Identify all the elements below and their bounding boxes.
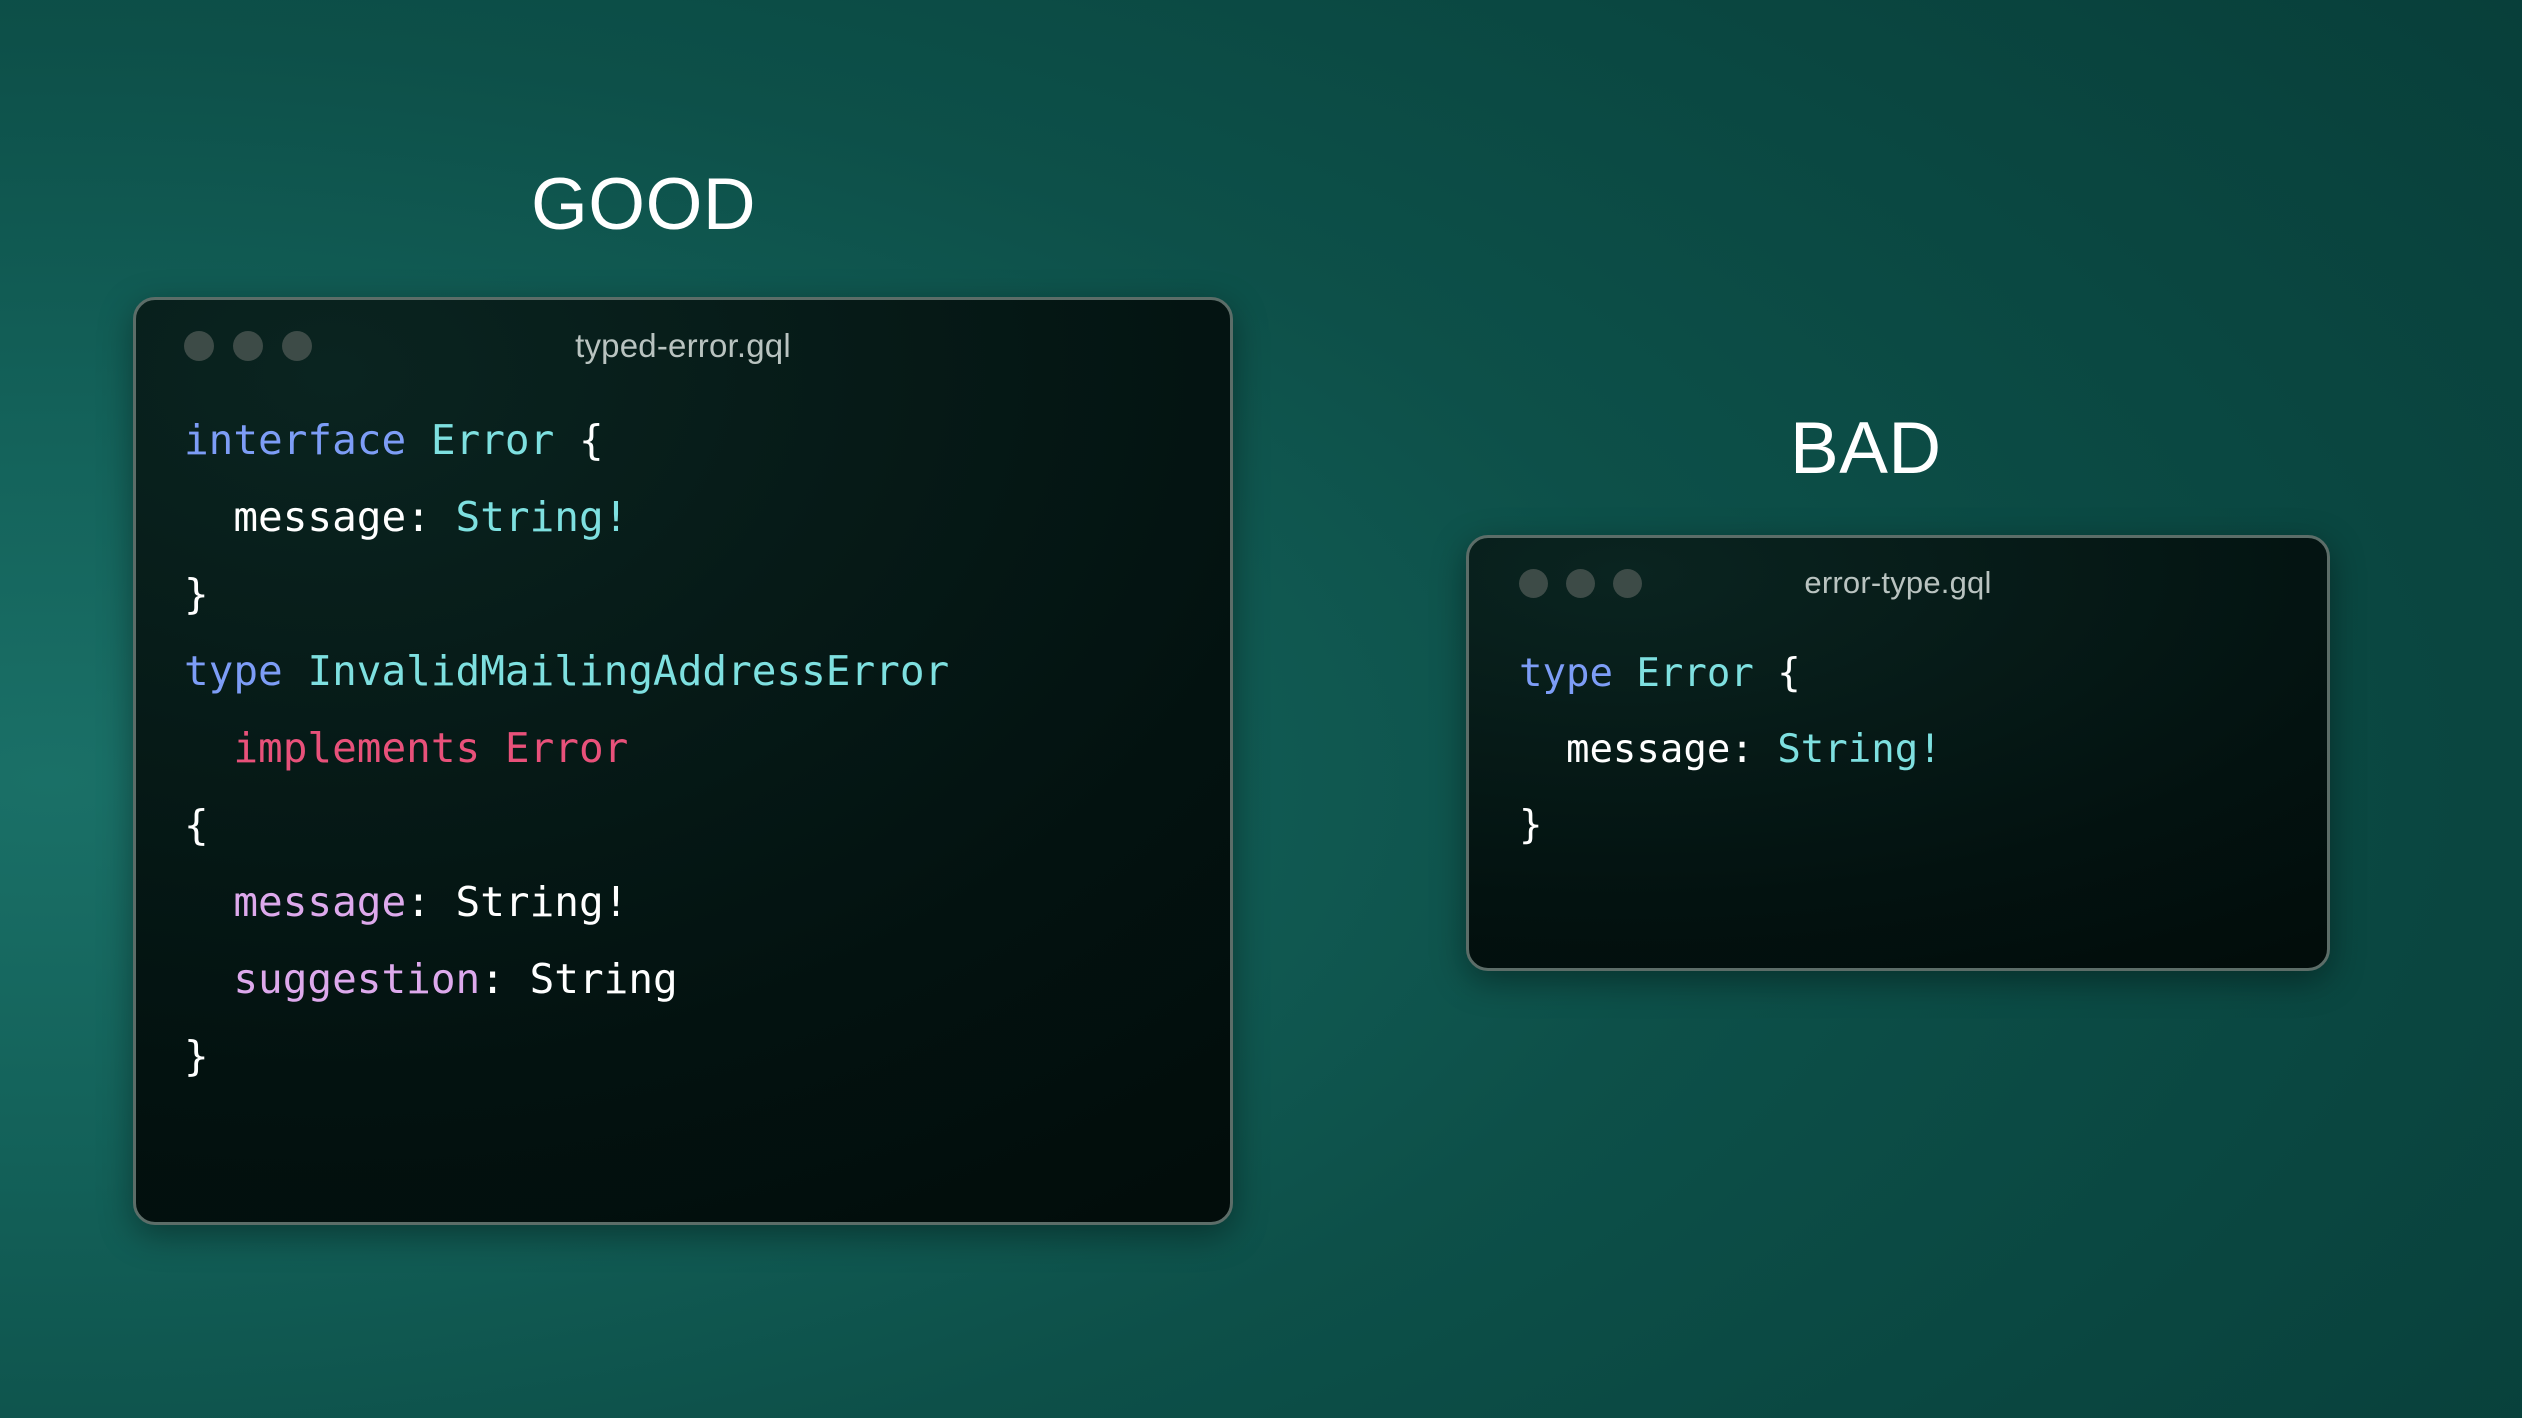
dot-minimize-icon[interactable] xyxy=(1566,569,1595,598)
code-token-plain xyxy=(406,416,431,464)
code-token-punct: } xyxy=(184,570,209,618)
code-token-field-mauve: suggestion xyxy=(233,955,480,1003)
code-content-bad: type Error { message: String!} xyxy=(1469,628,2327,864)
code-token-keyword: type xyxy=(184,647,283,695)
code-token-plain xyxy=(184,955,233,1003)
code-token-plain xyxy=(184,878,233,926)
bad-example-label: BAD xyxy=(1790,412,1942,485)
code-token-plain xyxy=(1613,651,1636,696)
code-token-punct: : xyxy=(406,878,455,926)
code-token-punct: } xyxy=(1519,803,1542,848)
code-line: message: String! xyxy=(184,864,1206,941)
code-token-punct: } xyxy=(184,1032,209,1080)
traffic-lights-good xyxy=(184,331,312,361)
code-token-punct: { xyxy=(1777,651,1800,696)
code-token-punct: { xyxy=(184,801,209,849)
code-token-typename: InvalidMailingAddressError xyxy=(307,647,949,695)
code-token-punct: : xyxy=(480,955,529,1003)
code-token-typename: Error xyxy=(431,416,554,464)
code-line: type InvalidMailingAddressError xyxy=(184,633,1206,710)
code-content-good: interface Error { message: String!}type … xyxy=(136,392,1230,1095)
code-window-bad: error-type.gql type Error { message: Str… xyxy=(1466,535,2330,971)
code-token-keyword: interface xyxy=(184,416,406,464)
slide-canvas: GOOD typed-error.gql interface Error { m… xyxy=(0,0,2522,1418)
dot-minimize-icon[interactable] xyxy=(233,331,263,361)
code-window-good: typed-error.gql interface Error { messag… xyxy=(133,297,1233,1225)
code-line: message: String! xyxy=(1519,712,2303,788)
code-token-punct: { xyxy=(579,416,604,464)
code-token-scalar: String! xyxy=(1777,727,1941,772)
code-token-plain xyxy=(554,416,579,464)
good-example-label: GOOD xyxy=(531,168,756,241)
window-titlebar-good: typed-error.gql xyxy=(136,300,1230,392)
code-token-scalar: String! xyxy=(456,493,629,541)
code-line: suggestion: String xyxy=(184,941,1206,1018)
code-token-scalar-plain: String xyxy=(530,955,678,1003)
code-token-plain xyxy=(283,647,308,695)
code-line: } xyxy=(184,556,1206,633)
window-titlebar-bad: error-type.gql xyxy=(1469,538,2327,628)
code-token-field-white: message xyxy=(233,493,406,541)
code-line: interface Error { xyxy=(184,402,1206,479)
code-token-punct: : xyxy=(1730,727,1777,772)
code-token-plain xyxy=(184,493,233,541)
code-token-plain xyxy=(1519,727,1566,772)
code-line: } xyxy=(1519,788,2303,864)
code-line: } xyxy=(184,1018,1206,1095)
code-token-punct: : xyxy=(406,493,455,541)
code-line: { xyxy=(184,787,1206,864)
dot-maximize-icon[interactable] xyxy=(282,331,312,361)
code-token-plain xyxy=(1754,651,1777,696)
dot-close-icon[interactable] xyxy=(1519,569,1548,598)
dot-close-icon[interactable] xyxy=(184,331,214,361)
code-token-field-mauve: message xyxy=(233,878,406,926)
code-token-implements: implements Error xyxy=(233,724,628,772)
code-line: message: String! xyxy=(184,479,1206,556)
code-token-typename: Error xyxy=(1636,651,1753,696)
code-token-scalar-plain: String! xyxy=(456,878,629,926)
traffic-lights-bad xyxy=(1519,569,1642,598)
code-line: type Error { xyxy=(1519,636,2303,712)
code-token-plain xyxy=(184,724,233,772)
dot-maximize-icon[interactable] xyxy=(1613,569,1642,598)
code-token-field-white: message xyxy=(1566,727,1730,772)
code-token-keyword: type xyxy=(1519,651,1613,696)
code-line: implements Error xyxy=(184,710,1206,787)
